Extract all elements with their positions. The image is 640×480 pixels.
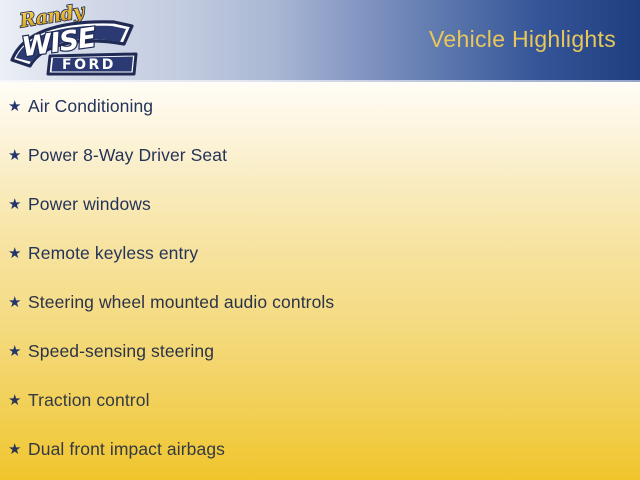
list-item-label: Power windows: [28, 194, 151, 215]
list-item[interactable]: ★ Remote keyless entry: [0, 229, 640, 278]
randy-wise-ford-logo[interactable]: Randy WISE FORD: [6, 0, 146, 80]
vehicle-highlights-list: ★ Air Conditioning ★ Power 8-Way Driver …: [0, 82, 640, 474]
list-item[interactable]: ★ Air Conditioning: [0, 82, 640, 131]
list-item-label: Speed-sensing steering: [28, 341, 214, 362]
vehicle-highlights-screen: Randy WISE FORD Vehicle Highlig: [0, 0, 640, 480]
list-item[interactable]: ★ Power 8-Way Driver Seat: [0, 131, 640, 180]
star-icon: ★: [8, 393, 28, 408]
star-icon: ★: [8, 442, 28, 457]
highlights-panel: ★ Air Conditioning ★ Power 8-Way Driver …: [0, 82, 640, 480]
list-item[interactable]: ★ Speed-sensing steering: [0, 327, 640, 376]
list-item[interactable]: ★ Dual front impact airbags: [0, 425, 640, 474]
star-icon: ★: [8, 344, 28, 359]
list-item-label: Air Conditioning: [28, 96, 153, 117]
list-item-label: Dual front impact airbags: [28, 439, 225, 460]
star-icon: ★: [8, 148, 28, 163]
star-icon: ★: [8, 99, 28, 114]
star-icon: ★: [8, 295, 28, 310]
list-item-label: Traction control: [28, 390, 150, 411]
page-header: Randy WISE FORD Vehicle Highlig: [0, 0, 640, 82]
list-item-label: Power 8-Way Driver Seat: [28, 145, 227, 166]
svg-text:FORD: FORD: [62, 57, 116, 73]
list-item-label: Steering wheel mounted audio controls: [28, 292, 334, 313]
list-item[interactable]: ★ Traction control: [0, 376, 640, 425]
logo-sub-word: FORD: [48, 54, 136, 74]
list-item-label: Remote keyless entry: [28, 243, 198, 264]
list-item[interactable]: ★ Power windows: [0, 180, 640, 229]
list-item[interactable]: ★ Steering wheel mounted audio controls: [0, 278, 640, 327]
star-icon: ★: [8, 197, 28, 212]
page-title: Vehicle Highlights: [429, 26, 616, 53]
star-icon: ★: [8, 246, 28, 261]
